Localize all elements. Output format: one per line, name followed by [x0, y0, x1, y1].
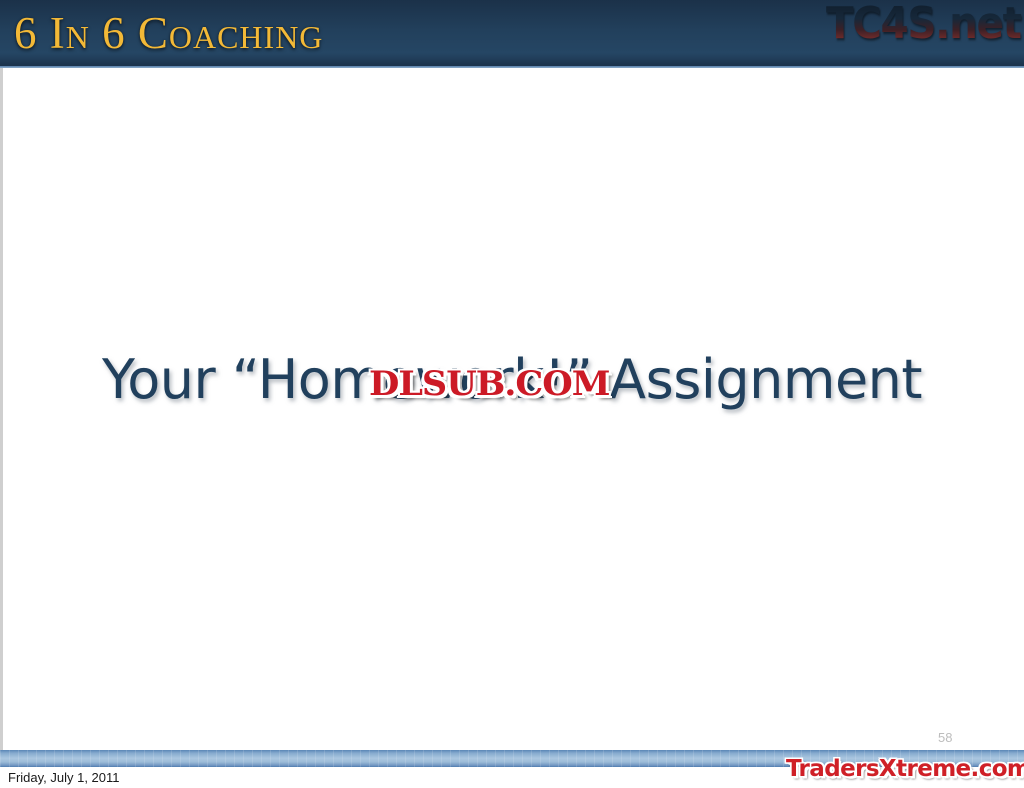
tc4s-brand-logo-text: TC4S.net [826, 1, 1024, 47]
dlsub-watermark: DLSUB.COM [369, 364, 609, 404]
slide-header-title: 6 In 6 Coaching [14, 2, 323, 64]
presentation-slide: 6 In 6 Coaching TC4S.net Your “Homework!… [0, 0, 1024, 788]
tradersxtreme-watermark: TradersXtreme.com [786, 755, 1024, 783]
slide-page-number: 58 [938, 730, 978, 745]
tc4s-brand-logo: TC4S.net [826, 1, 1024, 49]
slide-footer-date: Friday, July 1, 2011 [8, 770, 120, 785]
